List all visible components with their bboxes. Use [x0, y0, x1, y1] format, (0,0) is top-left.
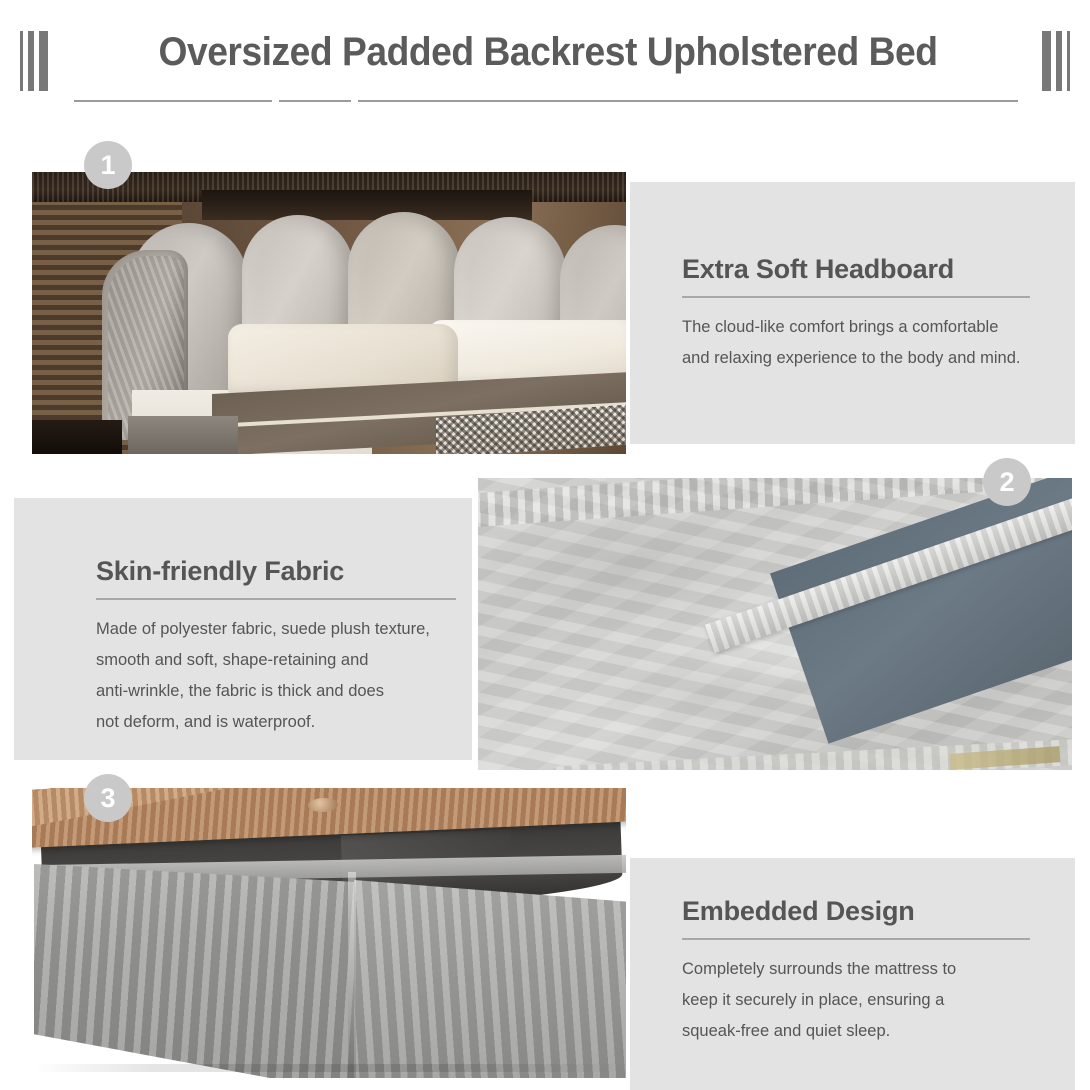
heading-divider — [682, 938, 1030, 940]
feature-body-line: keep it securely in place, ensuring a — [682, 985, 1030, 1016]
decor-bar — [1056, 31, 1062, 91]
feature-body-line: and relaxing experience to the body and … — [682, 343, 1030, 374]
feature-body-line: anti-wrinkle, the fabric is thick and do… — [96, 676, 456, 707]
frame-side-panel-right — [354, 880, 626, 1078]
feature-heading-1: Extra Soft Headboard — [682, 254, 1030, 285]
decor-bar — [20, 31, 23, 91]
feature-photo-frame — [32, 788, 626, 1078]
feature-photo-headboard — [32, 172, 626, 454]
decor-bar — [1067, 31, 1070, 91]
title-underline — [74, 100, 1018, 103]
feature-body-line: Completely surrounds the mattress to — [682, 954, 1030, 985]
feature-body-3: Completely surrounds the mattress to kee… — [682, 954, 1030, 1047]
decor-bar — [39, 31, 48, 91]
feature-card-2: Skin-friendly Fabric Made of polyester f… — [14, 498, 472, 760]
floor-shadow — [32, 420, 122, 454]
heading-divider — [96, 598, 456, 600]
underline-segment — [279, 100, 351, 102]
frame-side-panel-left — [34, 864, 356, 1078]
decor-bar — [28, 31, 34, 91]
triple-bar-right-icon — [1037, 31, 1070, 91]
page-title: Oversized Padded Backrest Upholstered Be… — [111, 30, 985, 75]
step-badge-2: 2 — [983, 458, 1031, 506]
feature-body-line: Made of polyester fabric, suede plush te… — [96, 614, 456, 645]
feature-body-line: smooth and soft, shape-retaining and — [96, 645, 456, 676]
step-badge-1: 1 — [84, 141, 132, 189]
heading-divider — [682, 296, 1030, 298]
underline-gap — [351, 100, 358, 103]
feature-card-3: Embedded Design Completely surrounds the… — [630, 858, 1075, 1090]
feature-heading-3: Embedded Design — [682, 896, 1030, 927]
feature-body-line: not deform, and is waterproof. — [96, 707, 456, 738]
feature-body-line: squeak-free and quiet sleep. — [682, 1016, 1030, 1047]
step-badge-3: 3 — [84, 774, 132, 822]
feature-card-1-content: Extra Soft Headboard The cloud-like comf… — [682, 254, 1030, 374]
bed-base — [128, 416, 238, 454]
page-header: Oversized Padded Backrest Upholstered Be… — [0, 0, 1090, 120]
decor-bar — [1042, 31, 1051, 91]
feature-card-2-content: Skin-friendly Fabric Made of polyester f… — [96, 556, 456, 738]
underline-gap — [272, 100, 279, 103]
feature-card-3-content: Embedded Design Completely surrounds the… — [682, 896, 1030, 1047]
feature-card-1: Extra Soft Headboard The cloud-like comf… — [630, 182, 1075, 444]
underline-segment — [358, 100, 1018, 102]
feature-heading-2: Skin-friendly Fabric — [96, 556, 456, 587]
photo-bottom-shadow — [32, 1064, 626, 1072]
feature-photo-fabric — [478, 478, 1072, 770]
underline-segment — [74, 100, 272, 102]
feature-body-2: Made of polyester fabric, suede plush te… — [96, 614, 456, 738]
feature-body-1: The cloud-like comfort brings a comforta… — [682, 312, 1030, 374]
feature-body-line: The cloud-like comfort brings a comforta… — [682, 312, 1030, 343]
triple-bar-left-icon — [20, 31, 53, 91]
frame-corner-seam — [348, 872, 356, 1078]
